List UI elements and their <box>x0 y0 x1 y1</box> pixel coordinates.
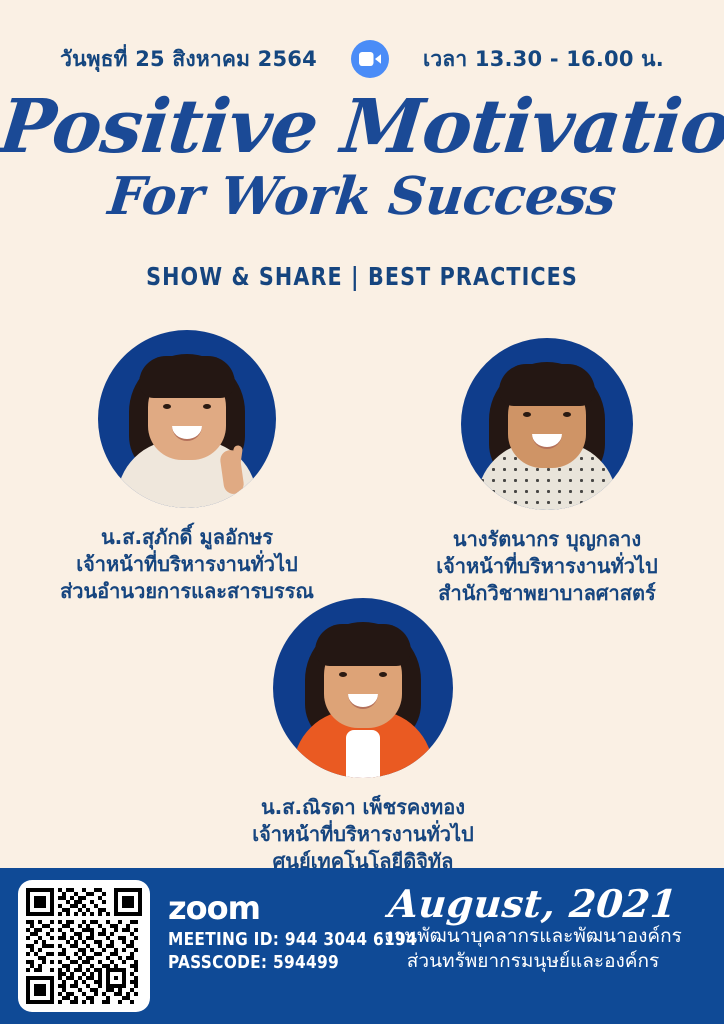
portrait-photo-speaker-2 <box>461 338 633 510</box>
event-date: วันพุธที่ 25 สิงหาคม 2564 <box>60 43 317 76</box>
poster-title: Positive Motivations For Work Success <box>0 92 724 225</box>
inner-shirt <box>346 730 380 778</box>
portrait-photo-speaker-3 <box>273 598 453 778</box>
event-poster: วันพุธที่ 25 สิงหาคม 2564 เวลา 13.30 - 1… <box>0 0 724 1024</box>
portrait-photo-speaker-1 <box>98 330 276 508</box>
eye-right <box>203 404 211 409</box>
qr-code-panel <box>18 880 150 1012</box>
header-bar: วันพุธที่ 25 สิงหาคม 2564 เวลา 13.30 - 1… <box>0 38 724 80</box>
speaker-role: เจ้าหน้าที่บริหารงานทั่วไป <box>382 553 712 580</box>
speaker-name: น.ส.สุภักดิ์ มูลอักษร <box>22 524 352 551</box>
fringe-shape <box>499 364 595 406</box>
eye-right <box>563 412 571 417</box>
zoom-video-camera-icon <box>351 40 389 78</box>
speaker-role: เจ้าหน้าที่บริหารงานทั่วไป <box>198 821 528 848</box>
eye-left <box>523 412 531 417</box>
organizer-block: August, 2021 งานพัฒนาบุคลากรและพัฒนาองค์… <box>368 884 698 973</box>
organizer-line-1: งานพัฒนาบุคลากรและพัฒนาองค์กร <box>368 924 698 949</box>
speaker-card-1: น.ส.สุภักดิ์ มูลอักษร เจ้าหน้าที่บริหารง… <box>22 330 352 605</box>
speaker-name: น.ส.ณิรดา เพ็ชรคงทอง <box>198 794 528 821</box>
month-year: August, 2021 <box>366 884 699 924</box>
eye-left <box>163 404 171 409</box>
qr-code[interactable] <box>26 888 142 1004</box>
title-line-2: For Work Success <box>0 170 724 225</box>
fringe-shape <box>139 356 235 398</box>
poster-tagline: SHOW & SHARE | BEST PRACTICES <box>29 262 695 291</box>
title-line-1: Positive Motivations <box>0 92 724 162</box>
speaker-card-2: นางรัตนากร บุญกลาง เจ้าหน้าที่บริหารงานท… <box>382 338 712 607</box>
speaker-card-3: น.ส.ณิรดา เพ็ชรคงทอง เจ้าหน้าที่บริหารงา… <box>198 598 528 875</box>
speaker-role: เจ้าหน้าที่บริหารงานทั่วไป <box>22 551 352 578</box>
event-time: เวลา 13.30 - 16.00 น. <box>423 43 664 76</box>
speaker-name: นางรัตนากร บุญกลาง <box>382 526 712 553</box>
organizer-line-2: ส่วนทรัพยากรมนุษย์และองค์กร <box>368 949 698 974</box>
eye-left <box>339 672 347 677</box>
fringe-shape <box>315 624 411 666</box>
footer-banner: zoom MEETING ID: 944 3044 6194 PASSCODE:… <box>0 868 724 1024</box>
eye-right <box>379 672 387 677</box>
